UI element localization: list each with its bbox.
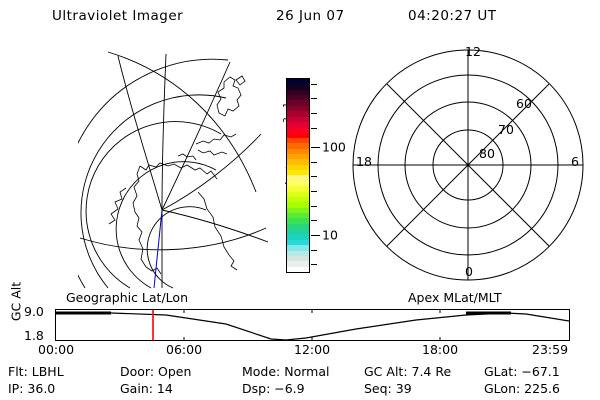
colorbar-minor-tick-6 [311,191,317,192]
status-glat: GLat: −67.1 [484,364,560,379]
orbit-y-tick-top: 9.0 [24,304,44,319]
colorbar-minor-tick-3 [311,128,317,129]
status-glon: GLon: 225.6 [484,381,560,396]
time-tick-3: 18:00 [422,342,458,357]
colorbar-minor-tick-9 [311,250,317,251]
colorbar-minor-tick-0 [311,84,317,85]
status-seq: Seq: 39 [364,381,412,396]
status-gc-alt: GC Alt: 7.4 Re [364,364,451,379]
mlat-label-60: 60 [516,96,532,111]
orbit-y-label-line1: GC [9,303,24,321]
status-ip: IP: 36.0 [8,381,55,396]
orbit-curve-svg [56,310,569,340]
orbit-altitude-panel[interactable]: Geographic Lat/Lon Apex MLat/MLT GC Alt … [0,292,600,348]
polar-dial-svg [352,42,584,290]
time-tick-2: 12:00 [294,342,330,357]
status-readout: Flt: LBHL Door: Open Mode: Normal GC Alt… [0,364,600,398]
colorbar-minor-tick-4 [311,162,317,163]
colorbar-minor-tick-7 [311,206,317,207]
mlat-label-70: 70 [498,122,514,137]
polar-panel-caption: Apex MLat/MLT [408,290,502,305]
orbit-y-tick-bottom: 1.8 [24,328,44,343]
colorbar-minor-tick-1 [311,98,317,99]
colorbar-band-35 [287,267,309,272]
orbit-time-axis: 00:00 06:00 12:00 18:00 23:59 [0,342,600,358]
status-gain: Gain: 14 [120,381,173,396]
time-tick-1: 06:00 [166,342,202,357]
polar-dial-panel[interactable]: 12 6 18 0 60 70 80 [352,42,584,290]
mlt-label-0: 0 [465,264,473,279]
orbit-y-label-line2: Alt [9,282,24,299]
colorbar-minor-tick-10 [311,264,317,265]
mlt-label-12: 12 [465,44,481,59]
mlt-label-6: 6 [571,154,579,169]
instrument-title: Ultraviolet Imager [52,8,183,24]
observation-date: 26 Jun 07 [276,8,345,24]
mlt-label-18: 18 [356,154,372,169]
status-dsp: Dsp: −6.9 [242,381,305,396]
mlat-label-80: 80 [479,146,495,161]
colorbar-minor-tick-8 [311,220,317,221]
colorbar-major-tick-0 [311,147,320,148]
colorbar-gradient [286,78,310,273]
orbit-y-axis-label: GC Alt [9,270,24,334]
colorbar-tick-label-100: 100 [322,140,346,155]
colorbar-minor-tick-2 [311,113,317,114]
colorbar-minor-tick-5 [311,176,317,177]
header-bar: Ultraviolet Imager 26 Jun 07 04:20:27 UT [0,8,600,30]
colorbar-major-tick-1 [311,235,320,236]
observation-time: 04:20:27 UT [408,8,497,24]
time-tick-4: 23:59 [532,342,568,357]
status-flight: Flt: LBHL [8,364,64,379]
time-tick-0: 00:00 [38,342,74,357]
geographic-panel-caption: Geographic Lat/Lon [66,290,188,305]
colorbar-panel[interactable]: photon cm-2s-1 10010 [262,48,352,293]
geographic-map-svg [78,42,268,290]
colorbar-tick-label-10: 10 [322,227,338,242]
geographic-map-panel[interactable] [78,42,268,290]
status-mode: Mode: Normal [242,364,329,379]
status-door: Door: Open [120,364,191,379]
orbit-plot-frame [55,309,570,341]
